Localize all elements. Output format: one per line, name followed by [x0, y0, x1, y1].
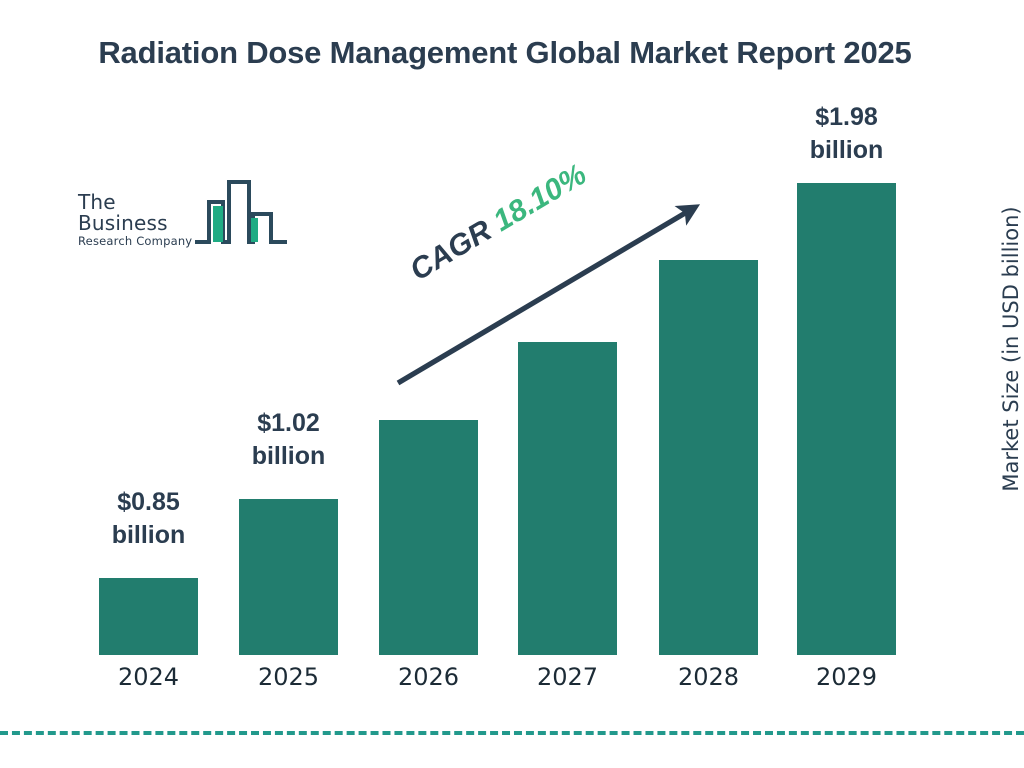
x-tick-2028: 2028: [649, 660, 768, 694]
bar-value-label-2025: $1.02 billion: [229, 407, 348, 473]
chart-canvas: Radiation Dose Management Global Market …: [0, 0, 1024, 768]
x-tick-2027: 2027: [508, 660, 627, 694]
bar-2029: [797, 183, 896, 655]
bar-2024: [99, 578, 198, 655]
bar-value-label-2029: $1.98 billion: [787, 101, 906, 167]
bar-2028: [659, 260, 758, 655]
bar-chart-plot-area: $0.85 billion 2024 $1.02 billion 2025 20…: [0, 0, 1024, 768]
y-axis-title: Market Size (in USD billion): [994, 189, 1024, 509]
bar-2025: [239, 499, 338, 655]
x-tick-2025: 2025: [229, 660, 348, 694]
bottom-divider: [0, 731, 1024, 735]
bar-2027: [518, 342, 617, 655]
bar-value-label-2024: $0.85 billion: [89, 486, 208, 552]
x-tick-2029: 2029: [787, 660, 906, 694]
x-tick-2024: 2024: [89, 660, 208, 694]
bar-2026: [379, 420, 478, 655]
x-tick-2026: 2026: [369, 660, 488, 694]
